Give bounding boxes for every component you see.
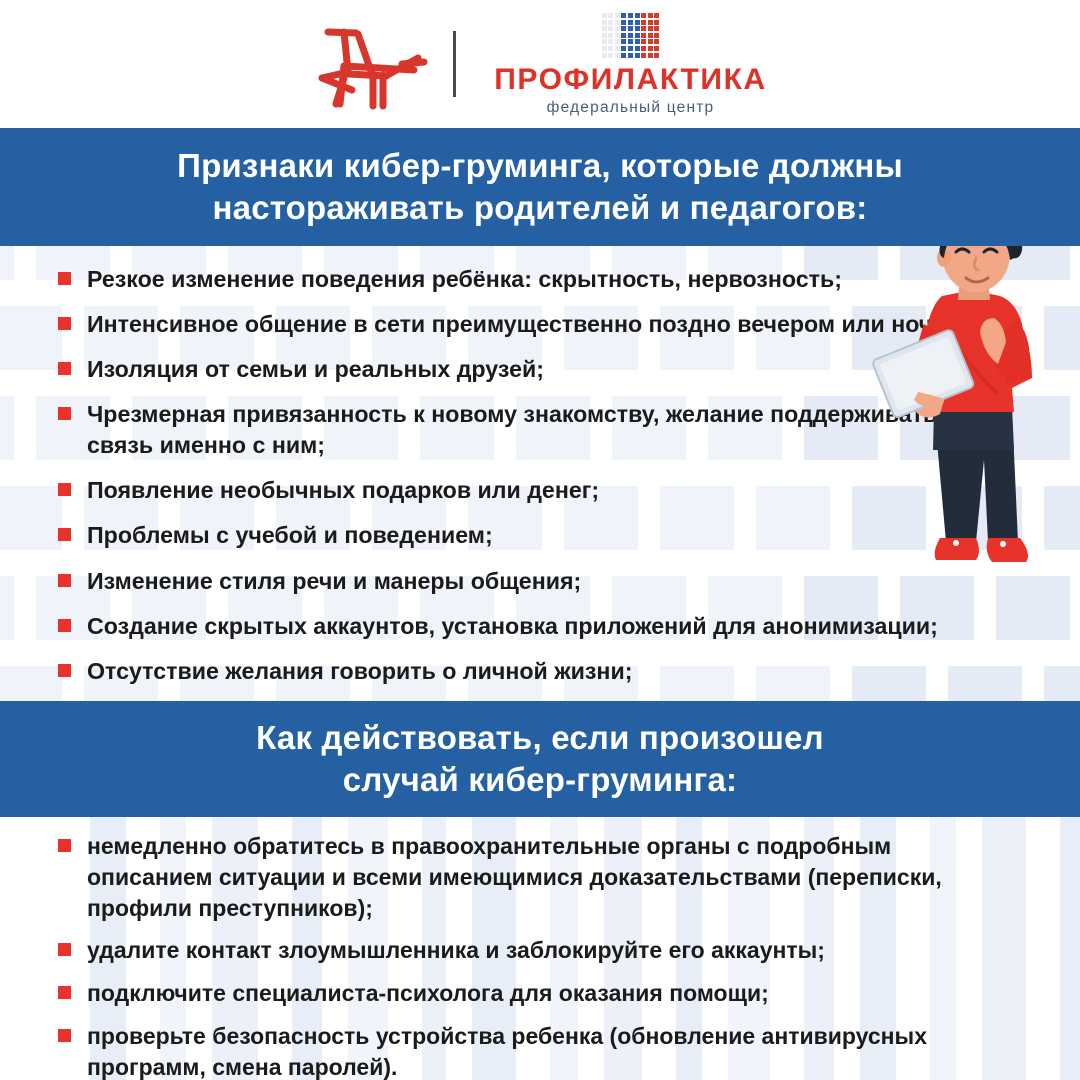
bullet-square-icon	[58, 362, 71, 375]
list-item-text: проверьте безопасность устройства ребенк…	[87, 1021, 987, 1080]
logo-grid-cell	[641, 13, 646, 18]
logo-grid-cell	[602, 53, 607, 58]
list-item-text: Создание скрытых аккаунтов, установка пр…	[87, 611, 938, 642]
logo-grid-cell	[608, 26, 613, 31]
banner-line: настораживать родителей и педагогов:	[213, 187, 868, 229]
bullet-square-icon	[58, 839, 71, 852]
logo-grid-cell	[608, 53, 613, 58]
logo-grid-cell	[621, 39, 626, 44]
banner-line: Как действовать, если произошел	[256, 717, 824, 759]
logo-grid-cell	[621, 46, 626, 51]
vertical-divider-icon	[453, 31, 456, 97]
logo-grid-cell	[648, 53, 653, 58]
logo-grid-cell	[628, 33, 633, 38]
signs-section: Резкое изменение поведения ребёнка: скры…	[0, 246, 1080, 701]
logo-grid-cell	[621, 20, 626, 25]
list-item-text: немедленно обратитесь в правоохранительн…	[87, 831, 987, 923]
logo-grid-cell	[602, 26, 607, 31]
list-item: Появление необычных подарков или денег;	[58, 475, 1024, 506]
logo-grid-cell	[628, 53, 633, 58]
logo-grid-cell	[641, 46, 646, 51]
logo-grid-cell	[641, 53, 646, 58]
list-item: немедленно обратитесь в правоохранительн…	[58, 831, 1024, 923]
logo-grid-cell	[602, 46, 607, 51]
logo-grid-cell	[648, 39, 653, 44]
logo-grid-cell	[654, 26, 659, 31]
logo-grid-cell	[628, 26, 633, 31]
bullet-square-icon	[58, 664, 71, 677]
logo-grid-cell	[654, 13, 659, 18]
list-item: Резкое изменение поведения ребёнка: скры…	[58, 264, 1024, 295]
logo-grid-cell	[608, 13, 613, 18]
logo-grid-cell	[608, 20, 613, 25]
list-item-text: удалите контакт злоумышленника и заблоки…	[87, 935, 825, 966]
logo-grid-cell	[654, 53, 659, 58]
logo-grid-cell	[654, 33, 659, 38]
brand-name: ПРОФИЛАКТИКА	[494, 65, 767, 95]
logo-grid-cell	[648, 13, 653, 18]
logo-grid-cell	[635, 33, 640, 38]
logo-grid-cell	[641, 33, 646, 38]
list-item-text: Проблемы с учебой и поведением;	[87, 520, 493, 551]
logo-grid-cell	[648, 46, 653, 51]
section-banner-actions: Как действовать, если произошел случай к…	[0, 701, 1080, 817]
logo-grid-cell	[615, 26, 620, 31]
bullet-square-icon	[58, 986, 71, 999]
bullet-square-icon	[58, 272, 71, 285]
logo-header: ПРОФИЛАКТИКА федеральный центр	[0, 0, 1080, 128]
logo-grid-cell	[628, 13, 633, 18]
list-item: Чрезмерная привязанность к новому знаком…	[58, 399, 1024, 461]
brand-logo: ПРОФИЛАКТИКА федеральный центр	[494, 13, 767, 115]
logo-grid-cell	[628, 46, 633, 51]
list-item-text: Чрезмерная привязанность к новому знаком…	[87, 399, 992, 461]
logo-grid-cell	[654, 39, 659, 44]
logo-grid-cell	[615, 33, 620, 38]
logo-grid-cell	[635, 53, 640, 58]
logo-grid-cell	[628, 39, 633, 44]
logo-grid-cell	[615, 46, 620, 51]
tricolor-grid-icon	[602, 13, 660, 58]
bullet-square-icon	[58, 528, 71, 541]
list-item: Изменение стиля речи и манеры общения;	[58, 566, 1024, 597]
actions-section: немедленно обратитесь в правоохранительн…	[0, 817, 1080, 1080]
logo-grid-cell	[635, 46, 640, 51]
logo-grid-cell	[641, 39, 646, 44]
logo-grid-cell	[648, 33, 653, 38]
bullet-square-icon	[58, 317, 71, 330]
logo-grid-cell	[635, 20, 640, 25]
logo-grid-cell	[602, 13, 607, 18]
list-item: Создание скрытых аккаунтов, установка пр…	[58, 611, 1024, 642]
list-item-text: Резкое изменение поведения ребёнка: скры…	[87, 264, 842, 295]
logo-grid-cell	[654, 46, 659, 51]
bullet-square-icon	[58, 483, 71, 496]
logo-grid-cell	[621, 26, 626, 31]
list-item: удалите контакт злоумышленника и заблоки…	[58, 935, 1024, 966]
list-item: Отсутствие желания говорить о личной жиз…	[58, 656, 1024, 687]
banner-line: Признаки кибер-груминга, которые должны	[177, 145, 903, 187]
list-item: Интенсивное общение в сети преимуществен…	[58, 309, 1024, 340]
list-item: Изоляция от семьи и реальных друзей;	[58, 354, 1024, 385]
logo-grid-cell	[615, 39, 620, 44]
logo-grid-cell	[641, 26, 646, 31]
logo-grid-cell	[602, 20, 607, 25]
list-item-text: Появление необычных подарков или денег;	[87, 475, 599, 506]
logo-grid-cell	[615, 20, 620, 25]
brand-tagline: федеральный центр	[547, 100, 715, 116]
actions-list: немедленно обратитесь в правоохранительн…	[0, 817, 1080, 1080]
logo-grid-cell	[602, 39, 607, 44]
list-item-text: подключите специалиста-психолога для ока…	[87, 978, 769, 1009]
list-item: Проблемы с учебой и поведением;	[58, 520, 1024, 551]
bullet-square-icon	[58, 943, 71, 956]
logo-grid-cell	[635, 39, 640, 44]
logo-grid-cell	[621, 13, 626, 18]
section-banner-signs: Признаки кибер-груминга, которые должны …	[0, 128, 1080, 246]
signs-list: Резкое изменение поведения ребёнка: скры…	[0, 246, 1080, 701]
logo-grid-cell	[615, 13, 620, 18]
logo-grid-cell	[654, 20, 659, 25]
logo-grid-cell	[635, 13, 640, 18]
logo-grid-cell	[621, 33, 626, 38]
bullet-square-icon	[58, 1029, 71, 1042]
logo-grid-cell	[608, 39, 613, 44]
logo-grid-cell	[608, 46, 613, 51]
list-item-text: Изменение стиля речи и манеры общения;	[87, 566, 581, 597]
red-line-art-animal-icon	[313, 18, 431, 110]
list-item: проверьте безопасность устройства ребенк…	[58, 1021, 1024, 1080]
list-item: подключите специалиста-психолога для ока…	[58, 978, 1024, 1009]
bullet-square-icon	[58, 574, 71, 587]
banner-line: случай кибер-груминга:	[343, 759, 737, 801]
logo-grid-cell	[608, 33, 613, 38]
logo-grid-cell	[648, 20, 653, 25]
logo-grid-cell	[621, 53, 626, 58]
logo-grid-cell	[602, 33, 607, 38]
logo-grid-cell	[628, 20, 633, 25]
logo-grid-cell	[615, 53, 620, 58]
list-item-text: Отсутствие желания говорить о личной жиз…	[87, 656, 632, 687]
logo-grid-cell	[635, 26, 640, 31]
list-item-text: Интенсивное общение в сети преимуществен…	[87, 309, 974, 340]
bullet-square-icon	[58, 407, 71, 420]
bullet-square-icon	[58, 619, 71, 632]
infographic-poster: ПРОФИЛАКТИКА федеральный центр Признаки …	[0, 0, 1080, 1080]
logo-grid-cell	[641, 20, 646, 25]
logo-grid-cell	[648, 26, 653, 31]
list-item-text: Изоляция от семьи и реальных друзей;	[87, 354, 544, 385]
